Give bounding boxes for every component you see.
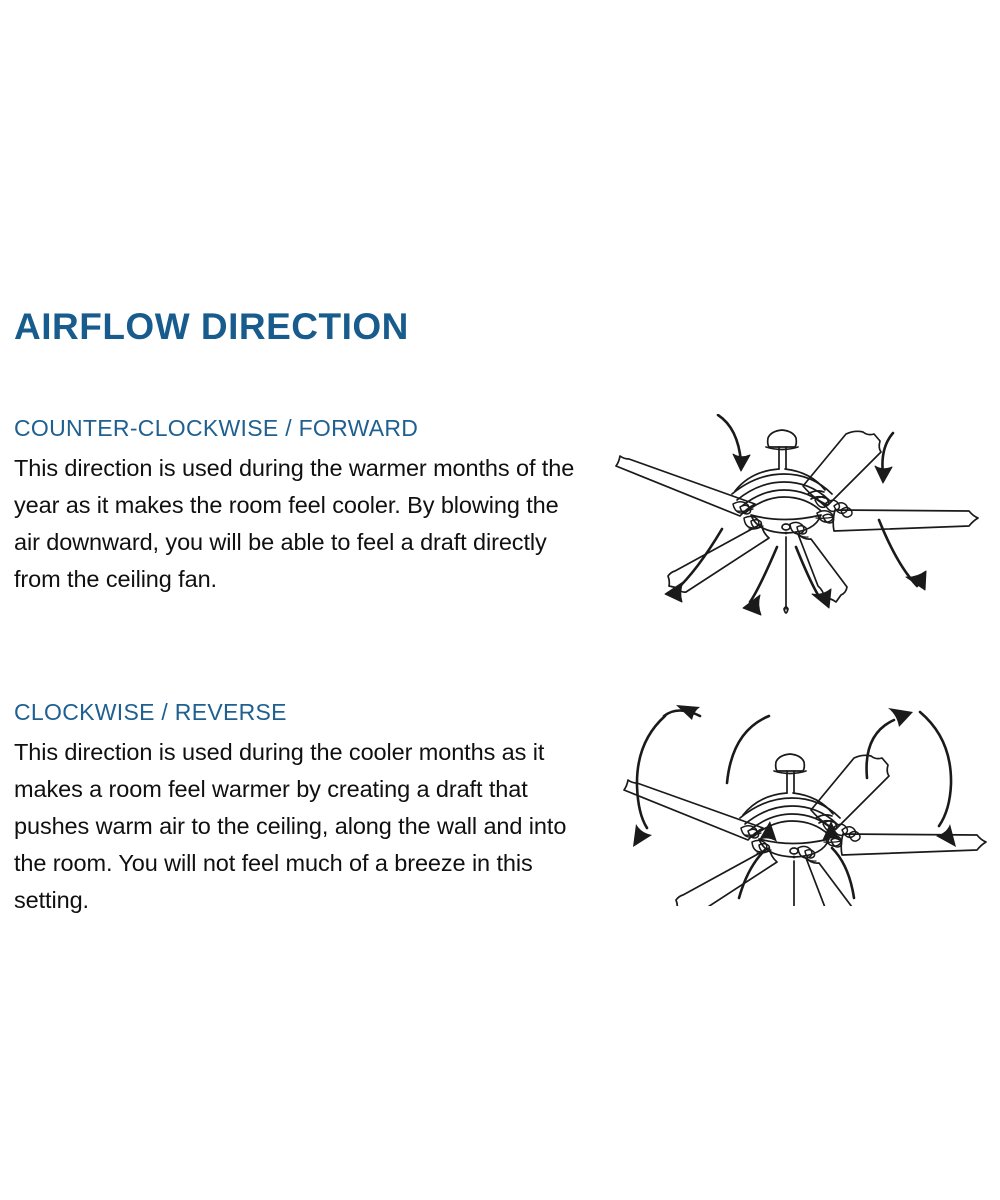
page-root: AIRFLOW DIRECTION COUNTER-CLOCKWISE / FO… (0, 0, 1000, 1200)
ceiling-fan-upward-airflow-diagram (596, 694, 994, 906)
section-body-counter-clockwise: This direction is used during the warmer… (14, 450, 580, 598)
ceiling-fan-downward-airflow-diagram (612, 414, 994, 638)
section-clockwise: CLOCKWISE / REVERSE This direction is us… (14, 699, 580, 919)
section-counter-clockwise: COUNTER-CLOCKWISE / FORWARD This directi… (14, 415, 580, 598)
fan-assembly-icon (624, 754, 986, 906)
page-title: AIRFLOW DIRECTION (14, 308, 409, 347)
section-heading-clockwise: CLOCKWISE / REVERSE (14, 699, 580, 726)
section-heading-counter-clockwise: COUNTER-CLOCKWISE / FORWARD (14, 415, 580, 442)
section-body-clockwise: This direction is used during the cooler… (14, 734, 580, 919)
